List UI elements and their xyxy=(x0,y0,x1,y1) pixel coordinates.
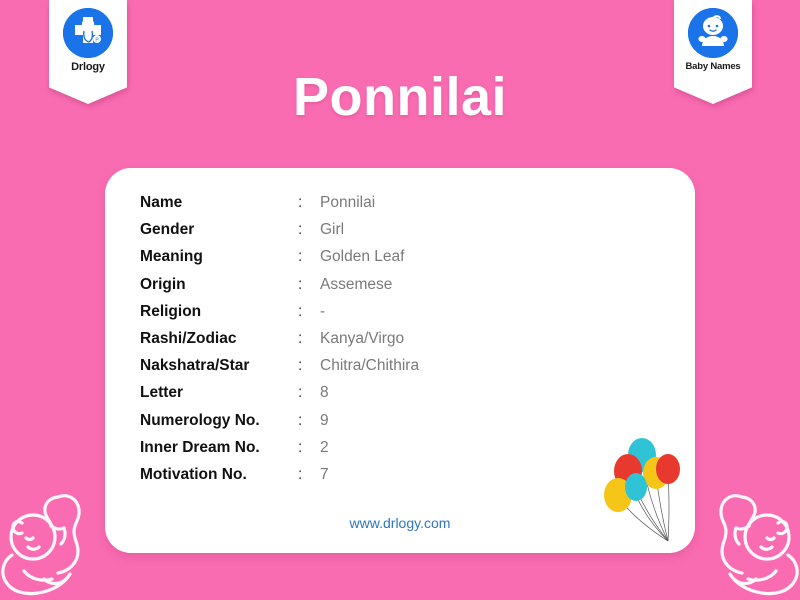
name-card-poster: P Drlogy Baby Names xyxy=(0,0,800,600)
row-label: Nakshatra/Star xyxy=(140,357,298,375)
row-separator: : xyxy=(298,412,320,430)
site-url-link[interactable]: www.drlogy.com xyxy=(105,515,695,531)
table-row: Nakshatra/Star : Chitra/Chithira xyxy=(140,357,419,384)
row-value: Girl xyxy=(320,221,344,239)
table-row: Religion : - xyxy=(140,303,419,330)
baby-icon xyxy=(688,8,738,58)
row-separator: : xyxy=(298,330,320,348)
table-row: Gender : Girl xyxy=(140,221,419,248)
row-separator: : xyxy=(298,384,320,402)
table-row: Numerology No. : 9 xyxy=(140,412,419,439)
table-row: Rashi/Zodiac : Kanya/Virgo xyxy=(140,330,419,357)
row-separator: : xyxy=(298,194,320,212)
row-label: Letter xyxy=(140,384,298,402)
row-label: Religion xyxy=(140,303,298,321)
page-title: Ponnilai xyxy=(0,66,800,128)
row-separator: : xyxy=(298,357,320,375)
row-value: Ponnilai xyxy=(320,194,375,212)
row-value: 8 xyxy=(320,384,329,402)
row-label: Rashi/Zodiac xyxy=(140,330,298,348)
row-separator: : xyxy=(298,466,320,484)
row-separator: : xyxy=(298,276,320,294)
table-row: Motivation No. : 7 xyxy=(140,466,419,493)
row-label: Gender xyxy=(140,221,298,239)
row-value: Golden Leaf xyxy=(320,248,404,266)
row-label: Numerology No. xyxy=(140,412,298,430)
table-row: Name : Ponnilai xyxy=(140,194,419,221)
row-value: 2 xyxy=(320,439,329,457)
row-separator: : xyxy=(298,439,320,457)
drlogy-doctor-icon: P xyxy=(63,8,113,58)
row-label: Motivation No. xyxy=(140,466,298,484)
row-label: Name xyxy=(140,194,298,212)
row-separator: : xyxy=(298,221,320,239)
row-value: Kanya/Virgo xyxy=(320,330,404,348)
table-row: Letter : 8 xyxy=(140,384,419,411)
table-row: Inner Dream No. : 2 xyxy=(140,439,419,466)
row-value: Assemese xyxy=(320,276,392,294)
mother-baby-art-left-icon xyxy=(0,475,100,600)
row-separator: : xyxy=(298,303,320,321)
row-value: - xyxy=(320,303,325,321)
row-value: 9 xyxy=(320,412,329,430)
table-row: Meaning : Golden Leaf xyxy=(140,248,419,275)
row-value: 7 xyxy=(320,466,329,484)
balloons-icon xyxy=(598,431,693,551)
table-row: Origin : Assemese xyxy=(140,276,419,303)
row-value: Chitra/Chithira xyxy=(320,357,419,375)
name-details-card: Name : Ponnilai Gender : Girl Meaning : … xyxy=(105,168,695,553)
row-label: Meaning xyxy=(140,248,298,266)
row-separator: : xyxy=(298,248,320,266)
row-label: Inner Dream No. xyxy=(140,439,298,457)
mother-baby-art-right-icon xyxy=(700,475,800,600)
row-label: Origin xyxy=(140,276,298,294)
name-details-table: Name : Ponnilai Gender : Girl Meaning : … xyxy=(140,194,419,493)
